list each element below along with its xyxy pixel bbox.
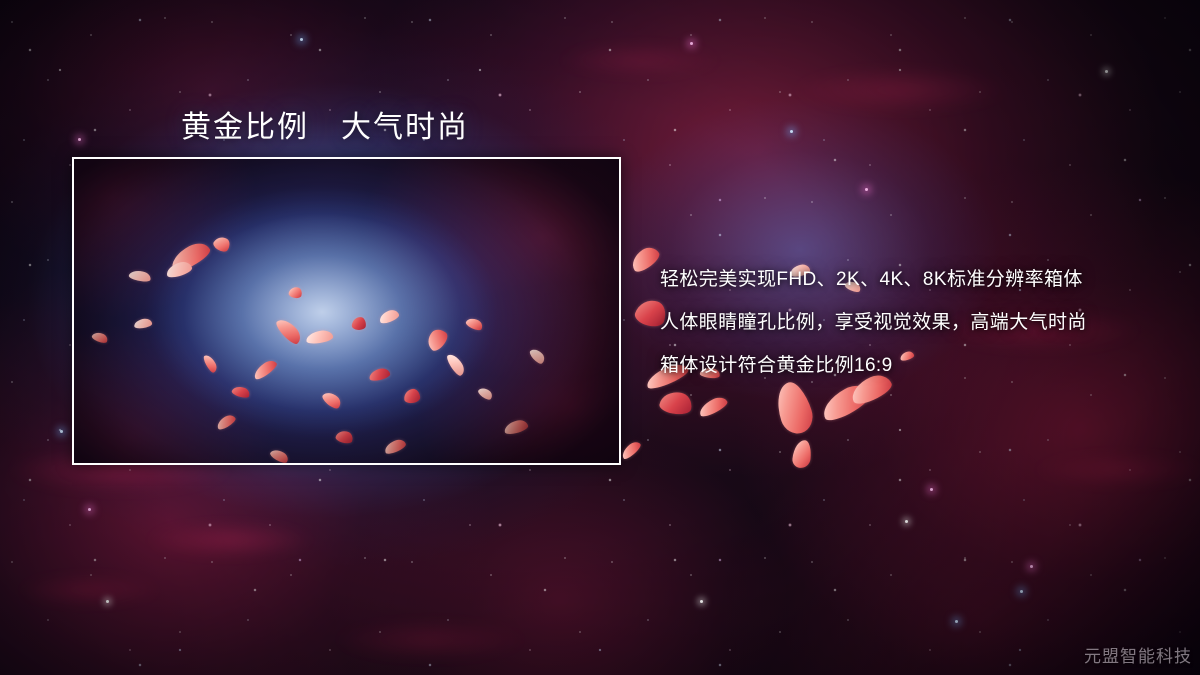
- feature-list: 轻松完美实现FHD、2K、4K、8K标准分辨率箱体 人体眼睛瞳孔比例，享受视觉效…: [660, 258, 1160, 387]
- bright-star: [955, 620, 958, 623]
- page-title: 黄金比例 大气时尚: [181, 102, 469, 146]
- watermark: 元盟智能科技: [1084, 642, 1192, 667]
- feature-line-1: 轻松完美实现FHD、2K、4K、8K标准分辨率箱体: [660, 258, 1160, 301]
- bright-star: [690, 42, 693, 45]
- bright-star: [700, 600, 703, 603]
- bright-star: [865, 188, 868, 191]
- bright-star: [1030, 565, 1033, 568]
- feature-line-3: 箱体设计符合黄金比例16:9: [660, 344, 1160, 387]
- bright-star: [88, 508, 91, 511]
- frame-vignette: [74, 159, 619, 463]
- bright-star: [1105, 70, 1108, 73]
- bright-star: [78, 138, 81, 141]
- petal: [619, 439, 642, 461]
- bright-star: [930, 488, 933, 491]
- feature-line-2: 人体眼睛瞳孔比例，享受视觉效果，高端大气时尚: [660, 301, 1160, 344]
- petal: [771, 378, 818, 437]
- bright-star: [1020, 590, 1023, 593]
- slide-canvas: 黄金比例 大气时尚: [0, 0, 1200, 675]
- bright-star: [905, 520, 908, 523]
- bright-star: [60, 430, 63, 433]
- bright-star: [790, 130, 793, 133]
- petal: [628, 243, 663, 275]
- petal: [792, 439, 813, 469]
- display-panel-frame: [72, 157, 621, 465]
- petal: [697, 394, 730, 419]
- petal: [658, 389, 693, 416]
- bright-star: [300, 38, 303, 41]
- bright-star: [106, 600, 109, 603]
